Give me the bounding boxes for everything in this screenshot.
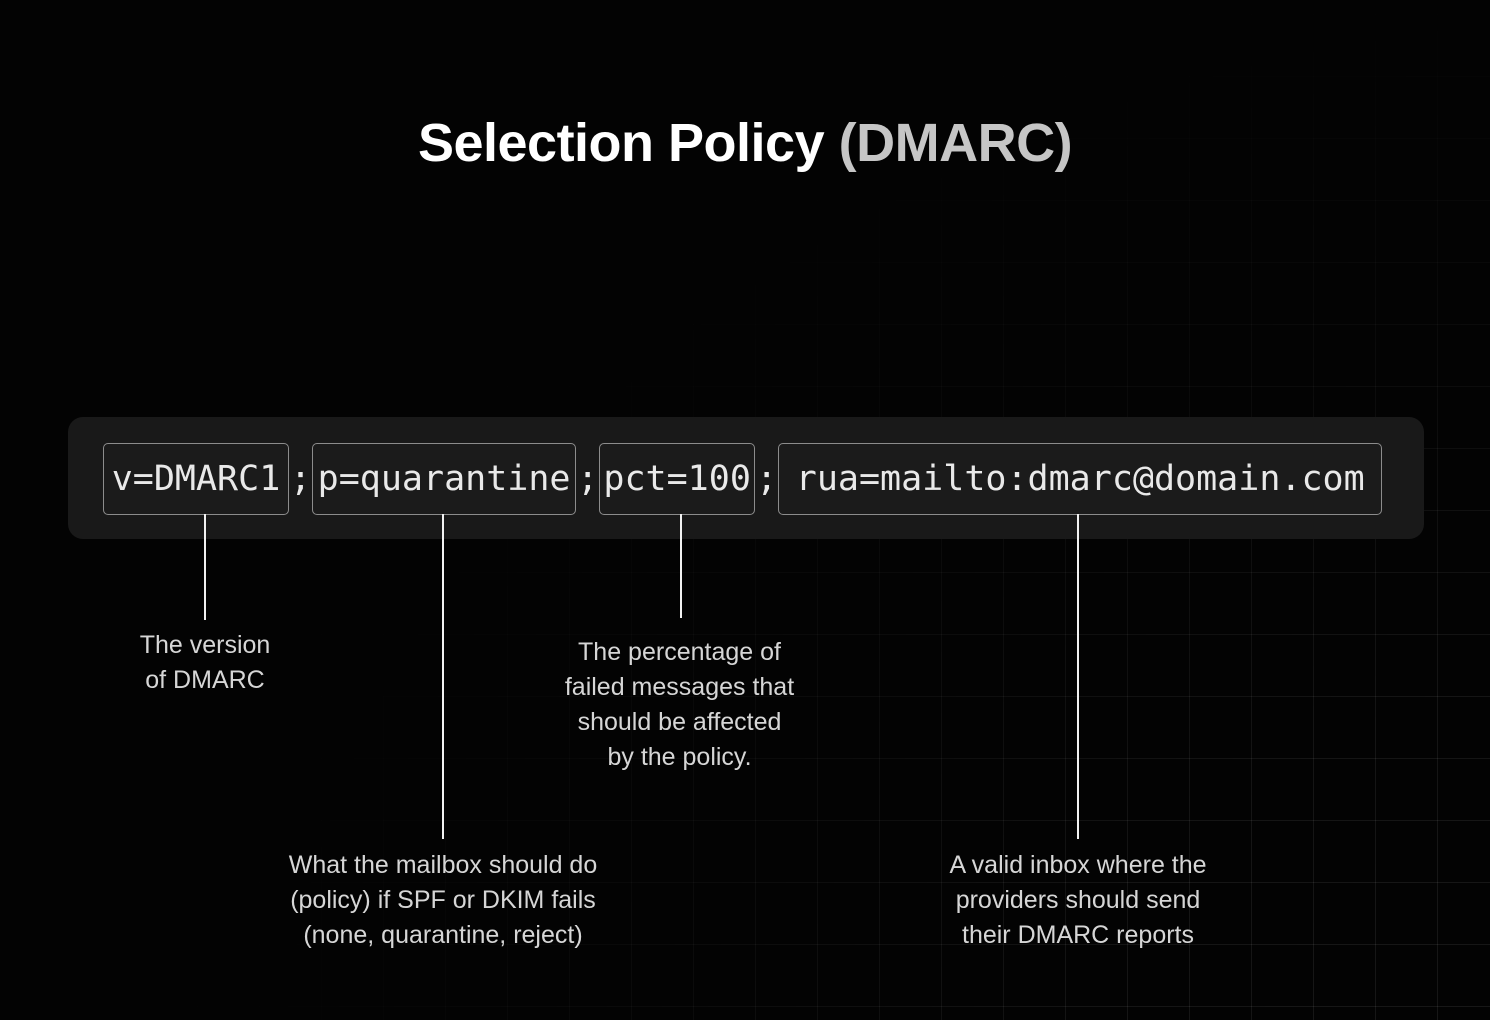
connector-line-version	[204, 514, 206, 620]
record-segment-policy[interactable]: p=quarantine	[312, 443, 576, 515]
connector-line-percent	[680, 514, 682, 618]
connector-line-rua	[1077, 514, 1079, 839]
record-separator-2: ;	[576, 443, 599, 515]
dmarc-record-panel: v=DMARC1 ; p=quarantine ; pct=100 ; rua=…	[68, 417, 1424, 539]
record-segment-rua[interactable]: rua=mailto:dmarc@domain.com	[778, 443, 1382, 515]
record-segment-version[interactable]: v=DMARC1	[103, 443, 289, 515]
annotation-percent: The percentage of failed messages that s…	[502, 635, 857, 775]
page-title: Selection Policy (DMARC)	[0, 112, 1490, 174]
record-segment-percent[interactable]: pct=100	[599, 443, 755, 515]
record-separator-3: ;	[755, 443, 778, 515]
annotation-policy: What the mailbox should do (policy) if S…	[233, 848, 653, 953]
slide-canvas: Selection Policy (DMARC) v=DMARC1 ; p=qu…	[0, 0, 1490, 1020]
annotation-rua: A valid inbox where the providers should…	[893, 848, 1263, 953]
annotation-version: The version of DMARC	[75, 628, 335, 698]
page-title-parenthetical: (DMARC)	[839, 113, 1072, 173]
connector-line-policy	[442, 514, 444, 839]
dmarc-record-row: v=DMARC1 ; p=quarantine ; pct=100 ; rua=…	[103, 443, 1382, 515]
page-title-main: Selection Policy	[418, 113, 839, 173]
record-separator-1: ;	[289, 443, 312, 515]
